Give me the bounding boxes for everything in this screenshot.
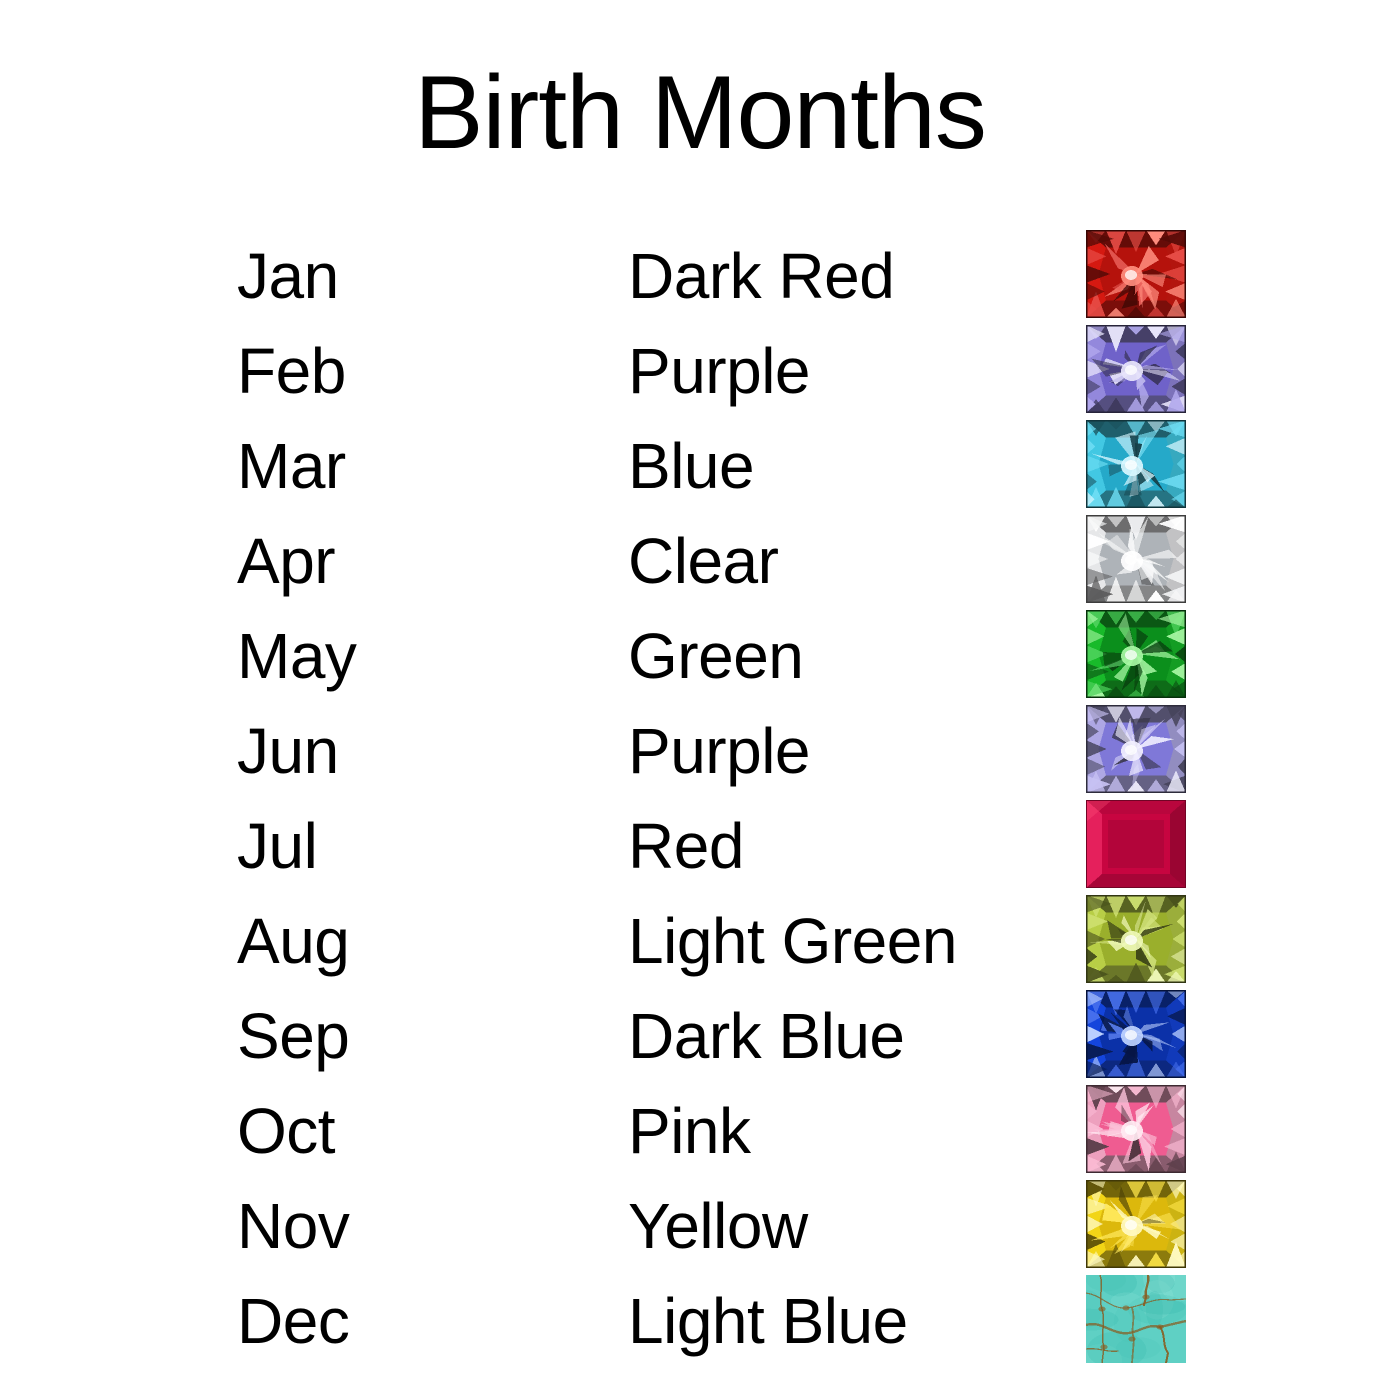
month-label: Jan <box>237 228 339 323</box>
birth-months-page: Birth Months JanDark RedFebPurpleMarBlue… <box>0 0 1400 1400</box>
color-label: Dark Blue <box>628 988 905 1083</box>
table-row: JunPurple <box>0 703 1400 798</box>
table-row: SepDark Blue <box>0 988 1400 1083</box>
emerald-gem <box>1086 610 1186 698</box>
tourmaline-gem <box>1086 1085 1186 1173</box>
table-row: DecLight Blue <box>0 1273 1400 1368</box>
amethyst-gem <box>1086 325 1186 413</box>
citrine-gem <box>1086 1180 1186 1268</box>
diamond-gem <box>1086 515 1186 603</box>
page-title: Birth Months <box>0 58 1400 168</box>
color-label: Pink <box>628 1083 751 1178</box>
month-label: Oct <box>237 1083 335 1178</box>
month-label: Apr <box>237 513 335 608</box>
color-label: Purple <box>628 323 810 418</box>
color-label: Clear <box>628 513 778 608</box>
color-label: Green <box>628 608 803 703</box>
color-label: Blue <box>628 418 754 513</box>
month-label: Aug <box>237 893 349 988</box>
ruby-gem <box>1086 800 1186 888</box>
birth-months-table: JanDark RedFebPurpleMarBlueAprClearMayGr… <box>0 228 1400 1368</box>
table-row: OctPink <box>0 1083 1400 1178</box>
month-label: Jun <box>237 703 339 798</box>
month-label: Sep <box>237 988 349 1083</box>
month-label: May <box>237 608 356 703</box>
month-label: Feb <box>237 323 346 418</box>
month-label: Dec <box>237 1273 349 1368</box>
sapphire-gem <box>1086 990 1186 1078</box>
table-row: FebPurple <box>0 323 1400 418</box>
table-row: AprClear <box>0 513 1400 608</box>
color-label: Red <box>628 798 744 893</box>
table-row: AugLight Green <box>0 893 1400 988</box>
table-row: MayGreen <box>0 608 1400 703</box>
aquamarine-gem <box>1086 420 1186 508</box>
month-label: Jul <box>237 798 317 893</box>
table-row: JanDark Red <box>0 228 1400 323</box>
color-label: Purple <box>628 703 810 798</box>
turquoise-gem <box>1086 1275 1186 1363</box>
month-label: Mar <box>237 418 346 513</box>
peridot-gem <box>1086 895 1186 983</box>
table-row: MarBlue <box>0 418 1400 513</box>
alexandrite-gem <box>1086 705 1186 793</box>
color-label: Dark Red <box>628 228 894 323</box>
garnet-gem <box>1086 230 1186 318</box>
month-label: Nov <box>237 1178 349 1273</box>
table-row: JulRed <box>0 798 1400 893</box>
color-label: Light Green <box>628 893 957 988</box>
table-row: NovYellow <box>0 1178 1400 1273</box>
color-label: Light Blue <box>628 1273 908 1368</box>
color-label: Yellow <box>628 1178 808 1273</box>
